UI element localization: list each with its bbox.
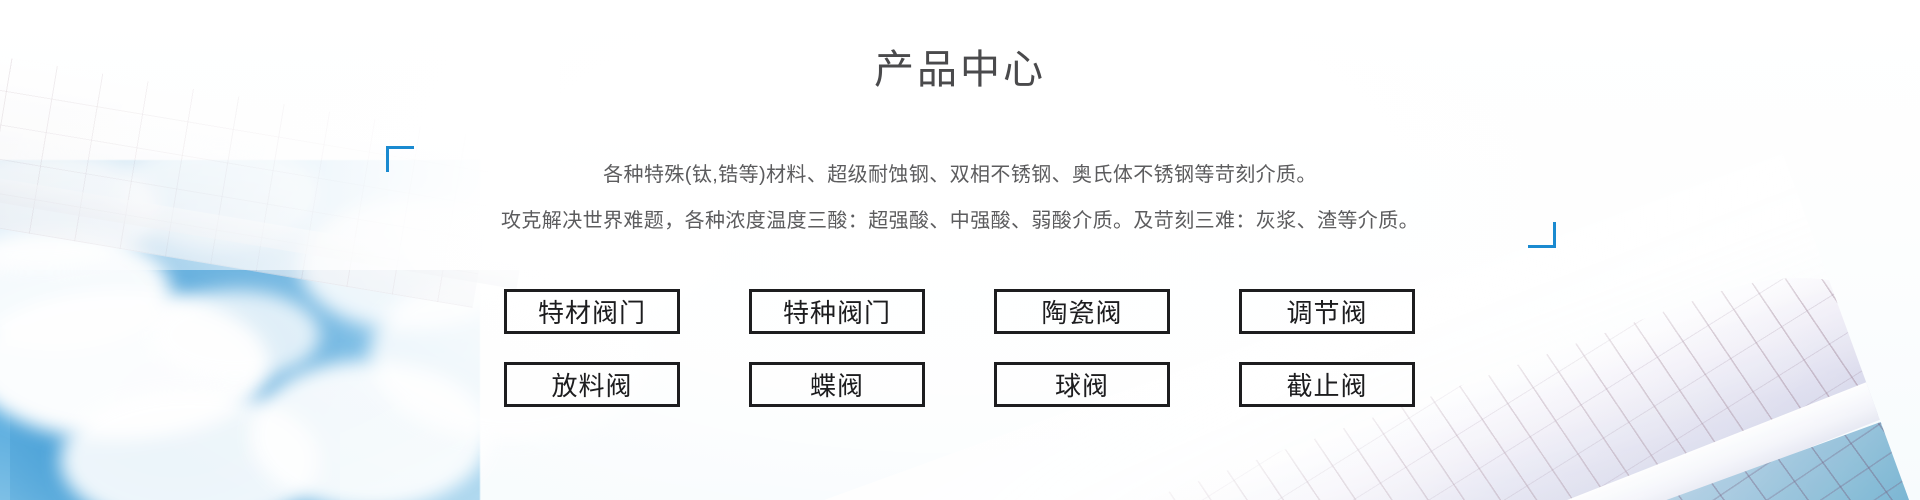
category-button-fangliao-fa[interactable]: 放料阀: [504, 362, 680, 407]
description-line-1: 各种特殊(钛,锆等)材料、超级耐蚀钢、双相不锈钢、奥氏体不锈钢等苛刻介质。: [0, 152, 1920, 198]
category-button-qiu-fa[interactable]: 球阀: [994, 362, 1170, 407]
category-button-jiezhi-fa[interactable]: 截止阀: [1239, 362, 1415, 407]
description-line-2: 攻克解决世界难题，各种浓度温度三酸：超强酸、中强酸、弱酸介质。及苛刻三难：灰浆、…: [0, 198, 1920, 244]
category-button-tiaojie-fa[interactable]: 调节阀: [1239, 289, 1415, 334]
category-button-taoci-fa[interactable]: 陶瓷阀: [994, 289, 1170, 334]
hero-content: 产品中心 各种特殊(钛,锆等)材料、超级耐蚀钢、双相不锈钢、奥氏体不锈钢等苛刻介…: [0, 0, 1920, 500]
product-category-grid: 特材阀门 特种阀门 陶瓷阀 调节阀 放料阀 蝶阀 球阀 截止阀: [504, 289, 1416, 407]
category-button-tecai-famen[interactable]: 特材阀门: [504, 289, 680, 334]
page-title: 产品中心: [0, 50, 1920, 90]
category-button-tezhong-famen[interactable]: 特种阀门: [749, 289, 925, 334]
description-block: 各种特殊(钛,锆等)材料、超级耐蚀钢、双相不锈钢、奥氏体不锈钢等苛刻介质。 攻克…: [0, 152, 1920, 244]
category-button-die-fa[interactable]: 蝶阀: [749, 362, 925, 407]
